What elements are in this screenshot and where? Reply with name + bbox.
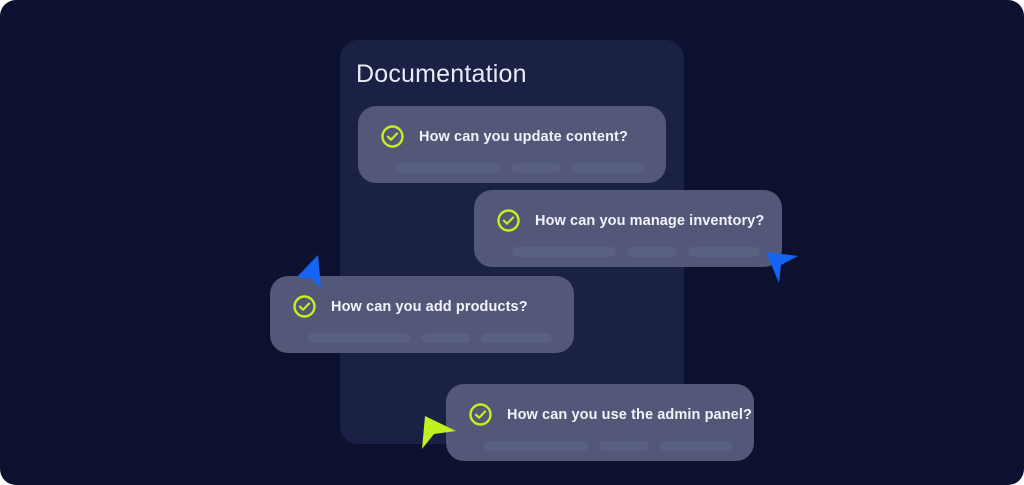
question-card-label: How can you manage inventory? <box>535 213 764 229</box>
check-circle-icon <box>292 294 317 319</box>
cursor-pointer-blue-left <box>296 255 330 291</box>
check-circle-icon <box>380 124 405 149</box>
question-card-header: How can you update content? <box>358 106 666 149</box>
skeleton-bar <box>512 247 616 257</box>
question-card-header: How can you manage inventory? <box>474 190 782 233</box>
skeleton-bar <box>308 333 410 343</box>
skeleton-bar <box>688 247 760 257</box>
skeleton-bar <box>396 163 500 173</box>
skeleton-bar <box>572 163 644 173</box>
question-card-label: How can you add products? <box>331 299 528 315</box>
question-card[interactable]: How can you use the admin panel? <box>446 384 754 461</box>
question-card[interactable]: How can you update content? <box>358 106 666 183</box>
skeleton-bar <box>421 333 469 343</box>
question-card-header: How can you use the admin panel? <box>446 384 754 427</box>
question-card-label: How can you update content? <box>419 129 628 145</box>
page-title: Documentation <box>356 60 527 89</box>
skeleton-bar <box>627 247 676 257</box>
skeleton-bar <box>481 333 552 343</box>
check-circle-icon <box>468 402 493 427</box>
check-circle-icon <box>496 208 521 233</box>
skeleton-bar <box>660 441 732 451</box>
skeleton-row <box>358 149 666 173</box>
cursor-pointer-blue-right <box>766 250 800 286</box>
skeleton-row <box>446 427 754 451</box>
skeleton-bar <box>484 441 588 451</box>
cursor-pointer-green <box>422 416 458 450</box>
screen-canvas: Documentation How can you update content… <box>0 0 1024 485</box>
skeleton-bar <box>511 163 560 173</box>
skeleton-bar <box>599 441 648 451</box>
question-card-label: How can you use the admin panel? <box>507 407 752 423</box>
skeleton-row <box>474 233 782 257</box>
question-card[interactable]: How can you manage inventory? <box>474 190 782 267</box>
skeleton-row <box>270 319 574 343</box>
